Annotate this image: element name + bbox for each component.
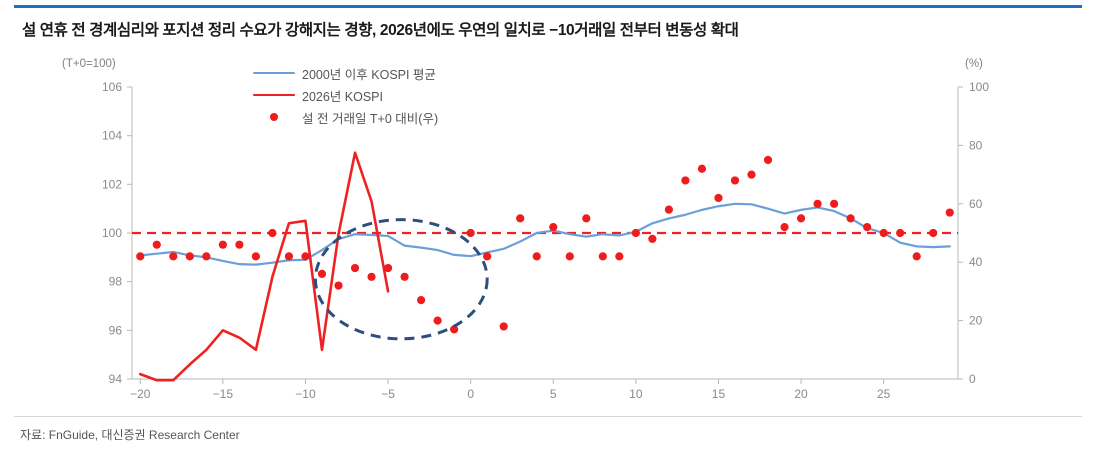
x-axis-tick-label: 20: [794, 387, 808, 401]
legend-dot-swatch-red: [252, 113, 296, 121]
y2-axis-tick-label: 0: [969, 372, 976, 386]
data-point-ratio: [665, 206, 673, 214]
data-point-ratio: [467, 229, 475, 237]
y-axis-tick-label: 104: [102, 129, 122, 143]
data-point-ratio: [202, 252, 210, 260]
data-point-ratio: [731, 176, 739, 184]
data-point-ratio: [235, 241, 243, 249]
data-point-ratio: [285, 252, 293, 260]
data-point-ratio: [533, 252, 541, 260]
source-note: 자료: FnGuide, 대신증권 Research Center: [20, 426, 240, 443]
x-axis-tick-label: 15: [712, 387, 726, 401]
bottom-divider: [14, 416, 1082, 417]
data-point-ratio: [500, 322, 508, 330]
y-axis-tick-label: 100: [102, 226, 122, 240]
data-point-ratio: [599, 252, 607, 260]
x-axis-tick-label: 0: [467, 387, 474, 401]
series-line-kospi-2026: [140, 153, 388, 381]
data-point-ratio: [863, 223, 871, 231]
y-axis-tick-label: 106: [102, 80, 122, 94]
data-point-ratio: [632, 229, 640, 237]
legend-label-kospi-average: 2000년 이후 KOSPI 평균: [302, 64, 436, 83]
y-axis-tick-label: 94: [109, 372, 123, 386]
data-point-ratio: [764, 156, 772, 164]
y2-axis-tick-label: 60: [969, 197, 983, 211]
y2-axis-tick-label: 100: [969, 80, 989, 94]
data-point-ratio: [896, 229, 904, 237]
data-point-ratio: [847, 214, 855, 222]
data-point-ratio: [301, 252, 309, 260]
data-point-ratio: [747, 171, 755, 179]
x-axis-tick-label: −10: [295, 387, 316, 401]
data-point-ratio: [318, 270, 326, 278]
data-point-ratio: [880, 229, 888, 237]
x-axis-tick-label: −15: [213, 387, 234, 401]
data-point-ratio: [714, 194, 722, 202]
data-point-ratio: [186, 252, 194, 260]
data-point-ratio: [566, 252, 574, 260]
data-point-ratio: [929, 229, 937, 237]
x-axis-tick-label: 25: [877, 387, 891, 401]
legend-label-kospi-2026: 2026년 KOSPI: [302, 86, 383, 105]
data-point-ratio: [549, 223, 557, 231]
chart-legend: 2000년 이후 KOSPI 평균 2026년 KOSPI 설 전 거래일 T+…: [252, 62, 438, 128]
data-point-ratio: [384, 264, 392, 272]
chart-page: 설 연휴 전 경계심리와 포지션 정리 수요가 강해지는 경향, 2026년에도…: [0, 0, 1096, 464]
legend-item-ratio-dots: 설 전 거래일 T+0 대비(우): [252, 106, 438, 128]
data-point-ratio: [681, 176, 689, 184]
series-line-kospi-average: [140, 204, 949, 265]
data-point-ratio: [169, 252, 177, 260]
x-axis-tick-label: 10: [629, 387, 643, 401]
data-point-ratio: [797, 214, 805, 222]
legend-label-ratio-dots: 설 전 거래일 T+0 대비(우): [302, 108, 438, 127]
data-point-ratio: [780, 223, 788, 231]
data-point-ratio: [417, 296, 425, 304]
x-axis-tick-label: 5: [550, 387, 557, 401]
data-point-ratio: [483, 252, 491, 260]
legend-line-swatch-blue: [252, 72, 296, 75]
data-point-ratio: [698, 165, 706, 173]
data-point-ratio: [813, 200, 821, 208]
data-point-ratio: [400, 273, 408, 281]
data-point-ratio: [268, 229, 276, 237]
data-point-ratio: [946, 208, 954, 216]
data-point-ratio: [615, 252, 623, 260]
data-point-ratio: [136, 252, 144, 260]
legend-item-kospi-average: 2000년 이후 KOSPI 평균: [252, 62, 438, 84]
data-point-ratio: [516, 214, 524, 222]
y-axis-tick-label: 102: [102, 177, 122, 191]
data-point-ratio: [351, 264, 359, 272]
y-axis-tick-label: 98: [109, 275, 123, 289]
data-point-ratio: [434, 317, 442, 325]
data-point-ratio: [830, 200, 838, 208]
data-point-ratio: [334, 281, 342, 289]
y2-axis-tick-label: 40: [969, 255, 983, 269]
data-point-ratio: [582, 214, 590, 222]
x-axis-tick-label: −5: [381, 387, 395, 401]
data-point-ratio: [252, 252, 260, 260]
data-point-ratio: [153, 241, 161, 249]
y-axis-tick-label: 96: [109, 323, 123, 337]
data-point-ratio: [648, 235, 656, 243]
data-point-ratio: [367, 273, 375, 281]
data-point-ratio: [219, 241, 227, 249]
legend-item-kospi-2026: 2026년 KOSPI: [252, 84, 438, 106]
y2-axis-tick-label: 80: [969, 138, 983, 152]
legend-line-swatch-red: [252, 94, 296, 97]
chart-plot-area: 949698100102104106020406080100−20−15−10−…: [0, 0, 1096, 464]
y2-axis-tick-label: 20: [969, 314, 983, 328]
x-axis-tick-label: −20: [130, 387, 151, 401]
data-point-ratio: [913, 252, 921, 260]
